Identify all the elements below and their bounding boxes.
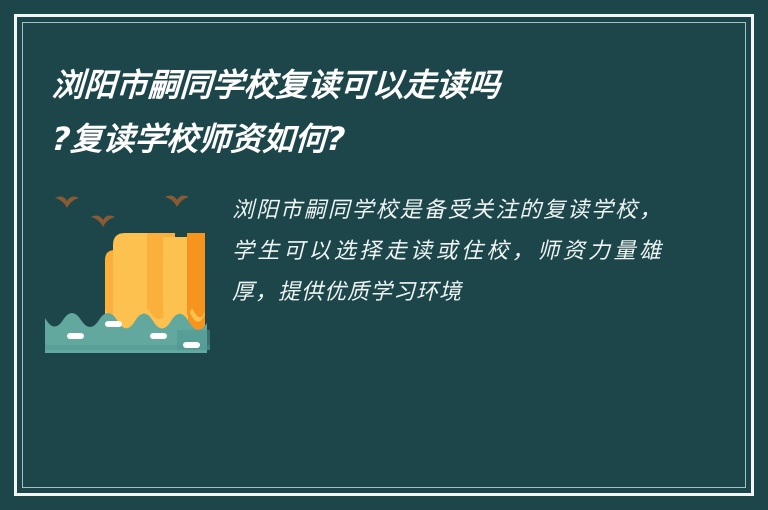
content-row: 浏阳市嗣同学校是备受关注的复读学校，学生可以选择走读或住校，师资力量雄厚，提供优… bbox=[0, 190, 768, 360]
bird-silhouette-left bbox=[55, 197, 79, 208]
article-card: 浏阳市嗣同学校复读可以走读吗 ?复读学校师资如何? bbox=[0, 0, 768, 510]
title-line-1: 浏阳市嗣同学校复读可以走读吗 bbox=[51, 58, 694, 112]
cliff-and-sea-illustration bbox=[45, 190, 210, 360]
bird-silhouette-right bbox=[165, 196, 189, 207]
page-title: 浏阳市嗣同学校复读可以走读吗 ?复读学校师资如何? bbox=[52, 58, 692, 166]
orange-cliff-shape bbox=[105, 233, 205, 334]
bird-silhouette-middle bbox=[91, 216, 115, 227]
body-text-block: 浏阳市嗣同学校是备受关注的复读学校，学生可以选择走读或住校，师资力量雄厚，提供优… bbox=[232, 190, 662, 313]
body-paragraph: 浏阳市嗣同学校是备受关注的复读学校，学生可以选择走读或住校，师资力量雄厚，提供优… bbox=[232, 190, 662, 313]
title-line-2: ?复读学校师资如何? bbox=[51, 112, 694, 166]
